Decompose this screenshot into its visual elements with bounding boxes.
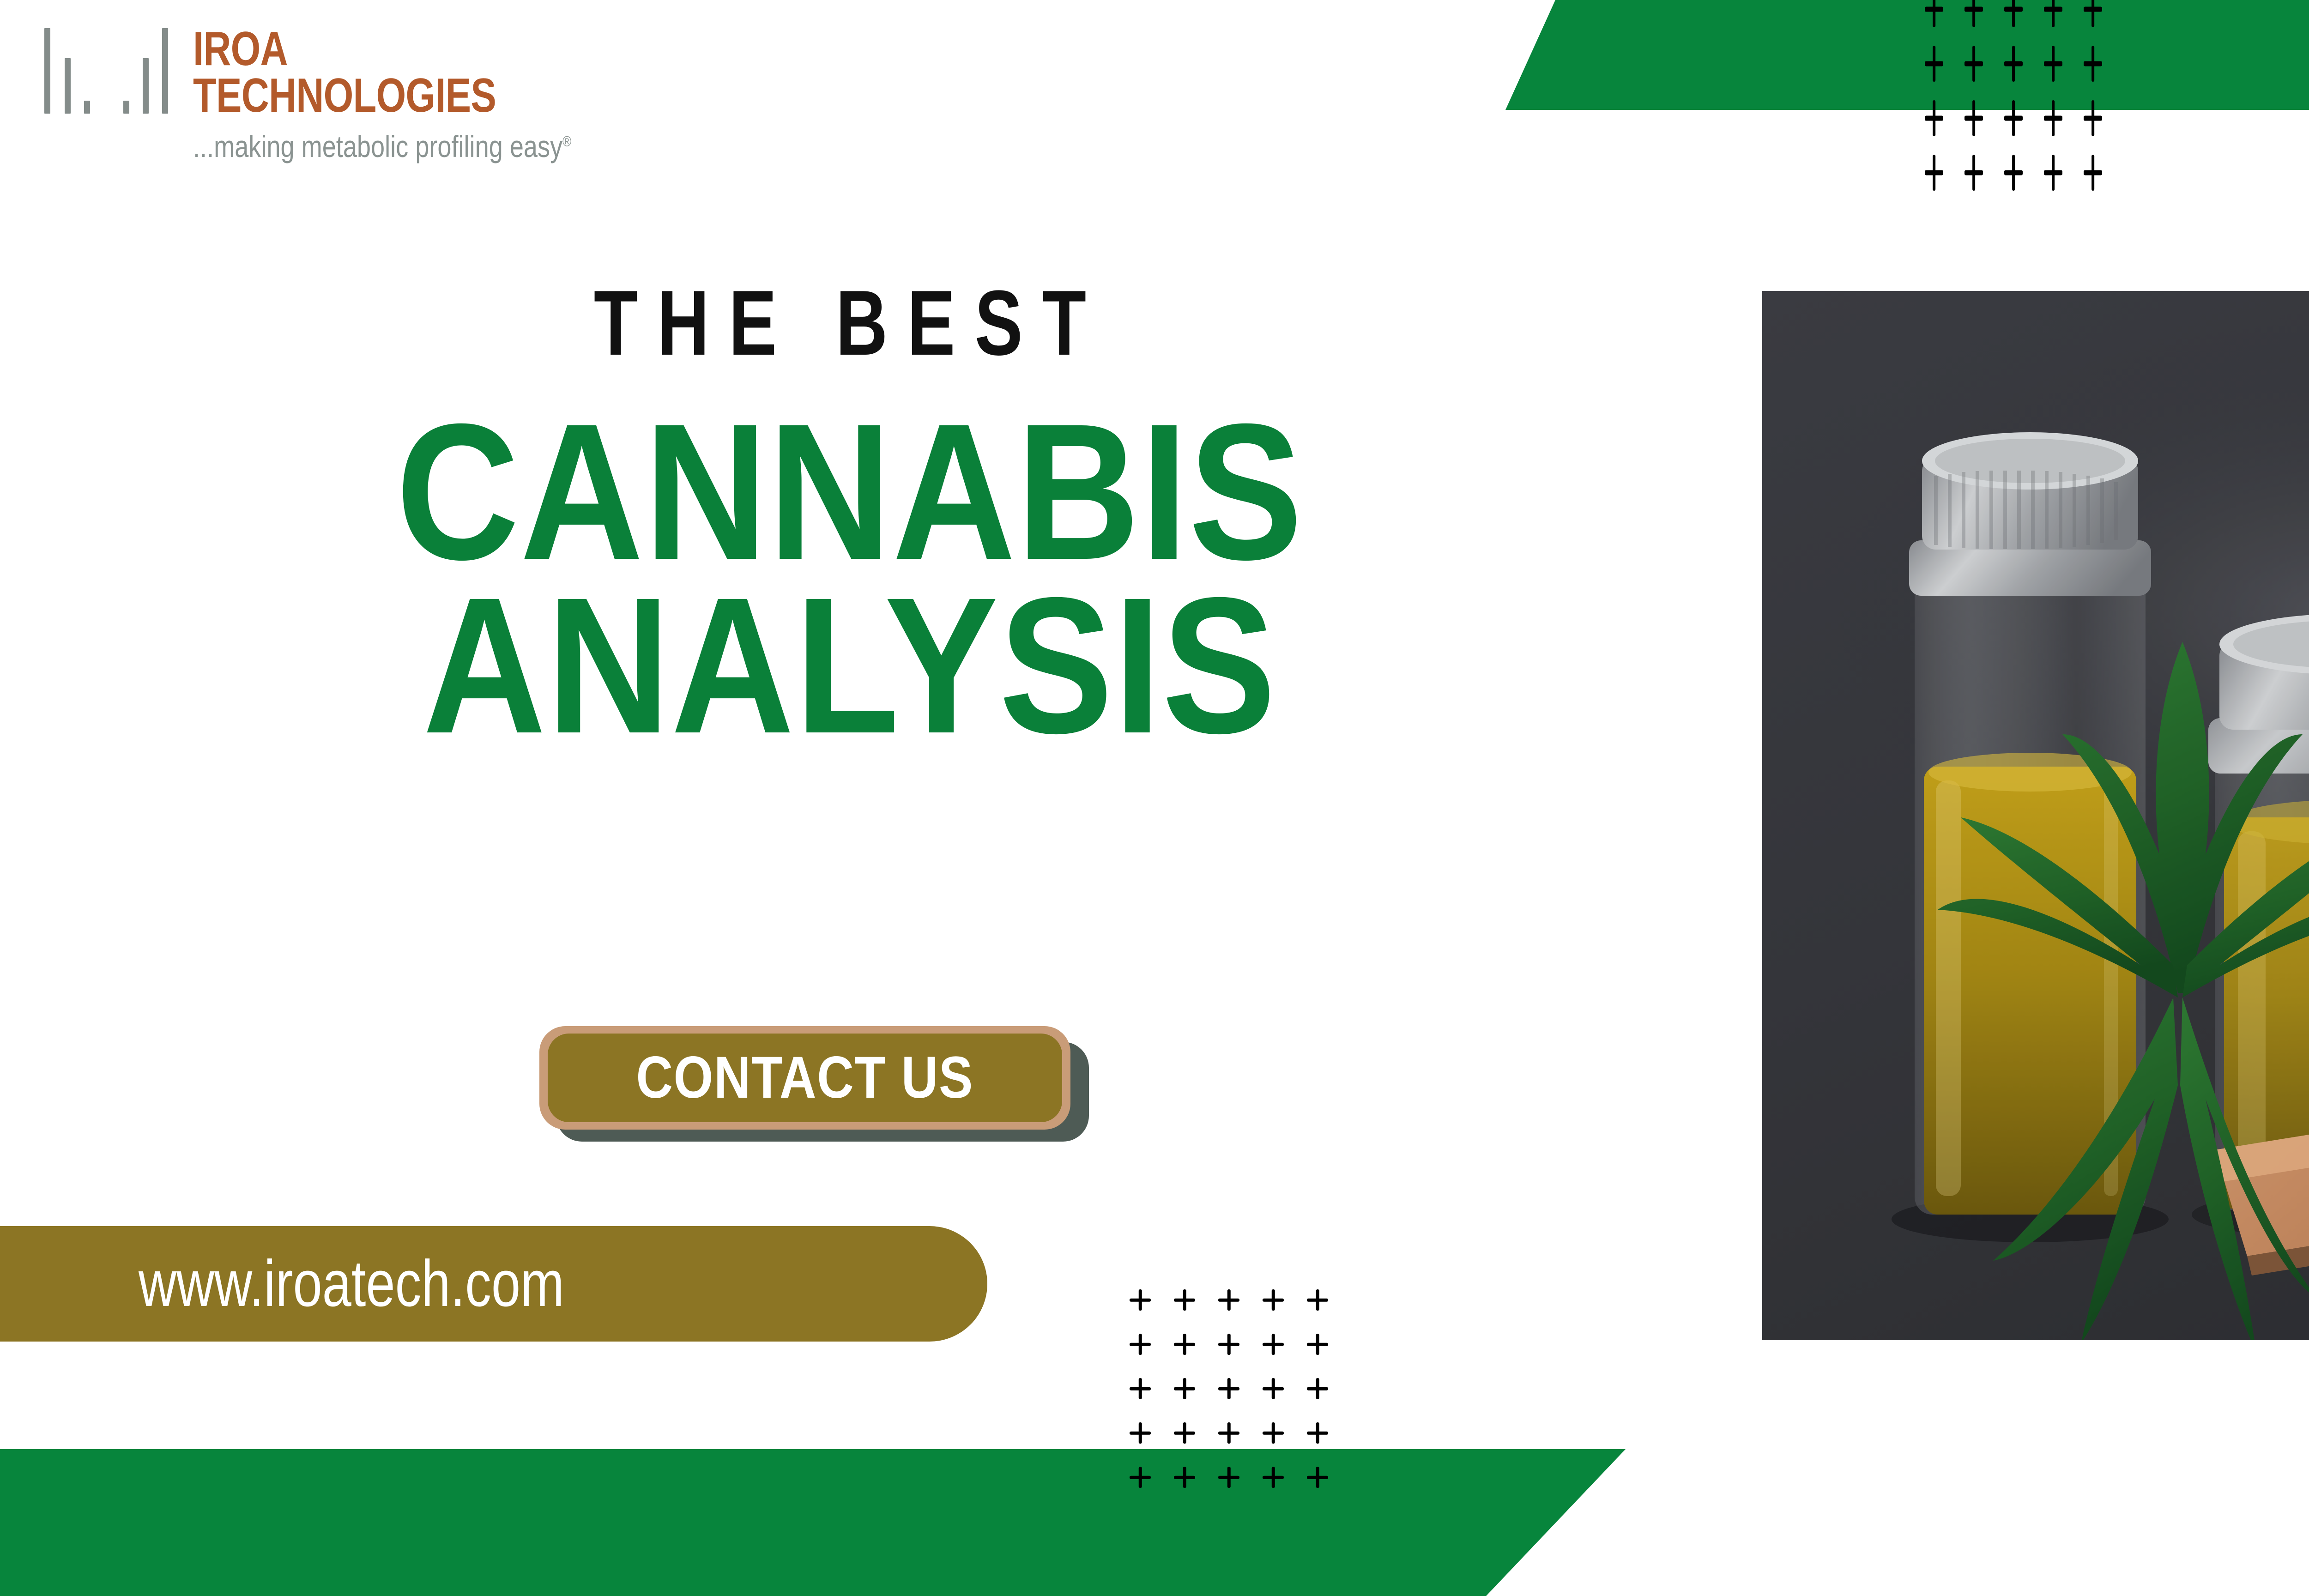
- plus-icon: [1964, 44, 1984, 83]
- plus-icon: [1217, 1466, 1240, 1489]
- product-photo-illustration: [1762, 291, 2309, 1340]
- plus-icon: [1924, 99, 1944, 138]
- plus-icon: [1924, 44, 1944, 83]
- green-shape-top: [1505, 0, 2309, 110]
- plus-icon: [1262, 1333, 1285, 1356]
- registered-mark-icon: ®: [562, 133, 571, 150]
- plus-icon: [2043, 99, 2063, 138]
- brand-tagline: ...making metabolic profiling easy®: [193, 131, 571, 162]
- headline-kicker: THE BEST: [381, 277, 1318, 369]
- plus-icon: [1173, 1466, 1196, 1489]
- headline-line-2: ANALYSIS: [321, 570, 1378, 762]
- plus-icon: [1306, 1333, 1329, 1356]
- plus-icon: [1306, 1288, 1329, 1312]
- plus-icon: [1306, 1421, 1329, 1445]
- brand-name-line1: IROA: [193, 26, 562, 73]
- plus-icon: [2083, 44, 2103, 83]
- plus-icon: [1306, 1377, 1329, 1400]
- plus-icon: [1924, 153, 1944, 192]
- spectrum-bars-icon: [38, 26, 176, 114]
- plus-icon: [1173, 1421, 1196, 1445]
- brand-name-line2: TECHNOLOGIES: [193, 73, 562, 119]
- plus-icon: [1129, 1288, 1152, 1312]
- plus-icon: [2043, 153, 2063, 192]
- contact-us-button[interactable]: CONTACT US: [548, 1034, 1062, 1122]
- brand-logo[interactable]: IROA TECHNOLOGIES ...making metabolic pr…: [38, 26, 654, 162]
- plus-grid-top: [1924, 0, 2103, 192]
- plus-icon: [1129, 1333, 1152, 1356]
- plus-icon: [2083, 99, 2103, 138]
- plus-icon: [1217, 1333, 1240, 1356]
- plus-icon: [1129, 1466, 1152, 1489]
- product-photo: [1762, 291, 2309, 1340]
- plus-icon: [2003, 99, 2024, 138]
- plus-icon: [1262, 1421, 1285, 1445]
- plus-icon: [1173, 1333, 1196, 1356]
- plus-icon: [1924, 0, 1944, 29]
- website-url: www.iroatech.com: [139, 1251, 564, 1317]
- plus-icon: [2043, 44, 2063, 83]
- plus-icon: [1964, 0, 1984, 29]
- green-shape-bottom: [0, 1449, 1626, 1596]
- plus-icon: [2003, 153, 2024, 192]
- plus-grid-bottom: [1129, 1288, 1329, 1489]
- plus-icon: [1262, 1466, 1285, 1489]
- plus-icon: [1217, 1421, 1240, 1445]
- plus-icon: [1173, 1377, 1196, 1400]
- contact-us-label: CONTACT US: [636, 1048, 974, 1107]
- plus-icon: [1129, 1377, 1152, 1400]
- plus-icon: [1217, 1288, 1240, 1312]
- brand-wordmark: IROA TECHNOLOGIES ...making metabolic pr…: [193, 26, 654, 162]
- plus-icon: [1262, 1377, 1285, 1400]
- promo-banner: IROA TECHNOLOGIES ...making metabolic pr…: [0, 0, 2309, 1596]
- plus-icon: [1964, 153, 1984, 192]
- website-pill[interactable]: www.iroatech.com: [0, 1226, 987, 1342]
- plus-icon: [2003, 0, 2024, 29]
- plus-icon: [1173, 1288, 1196, 1312]
- plus-icon: [1306, 1466, 1329, 1489]
- tagline-text: ...making metabolic profiling easy: [193, 129, 562, 163]
- plus-icon: [1129, 1421, 1152, 1445]
- plus-icon: [2083, 153, 2103, 192]
- plus-icon: [2083, 0, 2103, 29]
- plus-icon: [1964, 99, 1984, 138]
- cta-container: CONTACT US: [539, 1026, 1089, 1142]
- headline-block: THE BEST CANNABIS ANALYSIS: [249, 277, 1450, 762]
- plus-icon: [1217, 1377, 1240, 1400]
- plus-icon: [2003, 44, 2024, 83]
- plus-icon: [1262, 1288, 1285, 1312]
- plus-icon: [2043, 0, 2063, 29]
